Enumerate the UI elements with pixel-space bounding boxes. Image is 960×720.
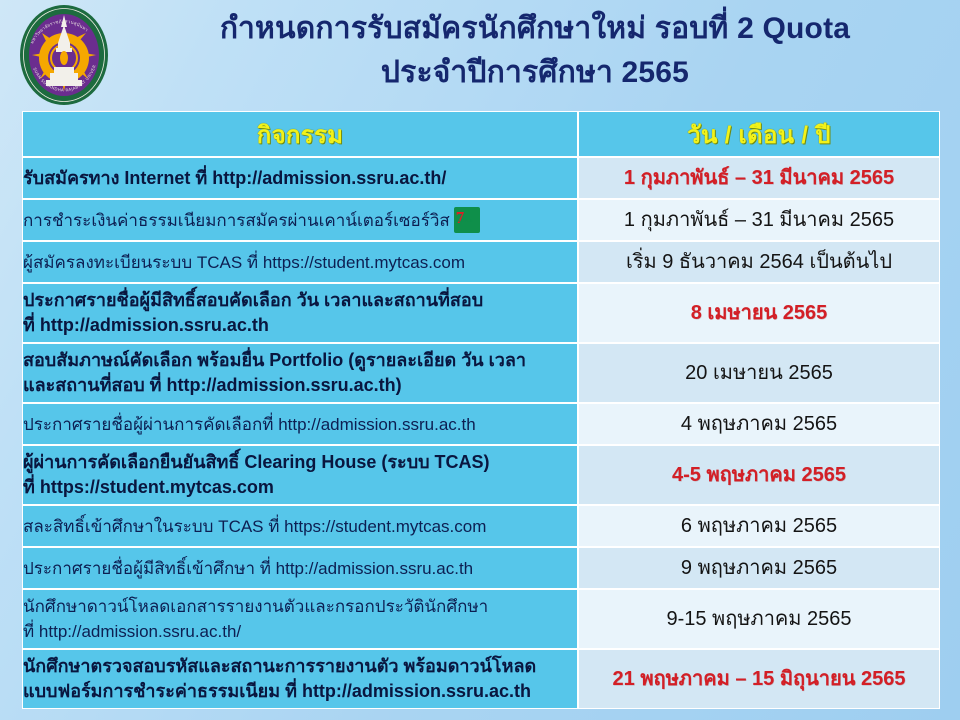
page-title-line-1: กำหนดการรับสมัครนักศึกษาใหม่ รอบที่ 2 Qu… [118,7,952,51]
activity-text-line: สละสิทธิ์เข้าศึกษาในระบบ TCAS ที่ https:… [23,514,577,539]
activity-cell: ผู้สมัครลงทะเบียนระบบ TCAS ที่ https://s… [22,241,578,283]
schedule-table-wrapper: กิจกรรม วัน / เดือน / ปี รับสมัครทาง Int… [22,111,940,709]
date-cell: เริ่ม 9 ธันวาคม 2564 เป็นต้นไป [578,241,940,283]
table-body: รับสมัครทาง Internet ที่ http://admissio… [22,157,940,709]
seven-eleven-icon: 7ELEVEN [454,207,480,233]
table-row: ประกาศรายชื่อผู้มีสิทธิ์เข้าศึกษา ที่ ht… [22,547,940,589]
date-cell: 4 พฤษภาคม 2565 [578,403,940,445]
activity-text-line: การชำระเงินค่าธรรมเนียมการสมัครผ่านเคาน์… [23,207,577,233]
column-header-date: วัน / เดือน / ปี [578,111,940,157]
activity-text-line: นักศึกษาดาวน์โหลดเอกสารรายงานตัวและกรอกป… [23,594,577,619]
activity-text-line: ผู้ผ่านการคัดเลือกยืนยันสิทธิ์ Clearing … [23,450,577,475]
table-row: ประกาศรายชื่อผู้ผ่านการคัดเลือกที่ http:… [22,403,940,445]
page-header: มหาวิทยาลัยราชภัฏสวนสุนันทา SUAN SUNANDH… [0,0,960,108]
activity-text-line: ผู้สมัครลงทะเบียนระบบ TCAS ที่ https://s… [23,250,577,275]
date-cell: 4-5 พฤษภาคม 2565 [578,445,940,505]
activity-cell: ผู้ผ่านการคัดเลือกยืนยันสิทธิ์ Clearing … [22,445,578,505]
activity-cell: ประกาศรายชื่อผู้มีสิทธิ์เข้าศึกษา ที่ ht… [22,547,578,589]
activity-text-line: แบบฟอร์มการชำระค่าธรรมเนียม ที่ http://a… [23,679,577,704]
table-row: นักศึกษาดาวน์โหลดเอกสารรายงานตัวและกรอกป… [22,589,940,649]
activity-cell: นักศึกษาตรวจสอบรหัสและสถานะการรายงานตัว … [22,649,578,709]
activity-text-line: ประกาศรายชื่อผู้มีสิทธิ์เข้าศึกษา ที่ ht… [23,556,577,581]
table-row: สอบสัมภาษณ์คัดเลือก พร้อมยื่น Portfolio … [22,343,940,403]
table-row: ผู้ผ่านการคัดเลือกยืนยันสิทธิ์ Clearing … [22,445,940,505]
date-cell: 8 เมษายน 2565 [578,283,940,343]
date-cell: 9 พฤษภาคม 2565 [578,547,940,589]
table-row: สละสิทธิ์เข้าศึกษาในระบบ TCAS ที่ https:… [22,505,940,547]
date-cell: 9-15 พฤษภาคม 2565 [578,589,940,649]
table-row: การชำระเงินค่าธรรมเนียมการสมัครผ่านเคาน์… [22,199,940,241]
column-header-activity: กิจกรรม [22,111,578,157]
activity-text-line: ประกาศรายชื่อผู้ผ่านการคัดเลือกที่ http:… [23,412,577,437]
date-cell: 21 พฤษภาคม – 15 มิถุนายน 2565 [578,649,940,709]
table-row: นักศึกษาตรวจสอบรหัสและสถานะการรายงานตัว … [22,649,940,709]
activity-cell: ประกาศรายชื่อผู้ผ่านการคัดเลือกที่ http:… [22,403,578,445]
table-row: ผู้สมัครลงทะเบียนระบบ TCAS ที่ https://s… [22,241,940,283]
date-cell: 1 กุมภาพันธ์ – 31 มีนาคม 2565 [578,157,940,199]
activity-text-line: นักศึกษาตรวจสอบรหัสและสถานะการรายงานตัว … [23,654,577,679]
activity-cell: นักศึกษาดาวน์โหลดเอกสารรายงานตัวและกรอกป… [22,589,578,649]
table-row: ประกาศรายชื่อผู้มีสิทธิ์สอบคัดเลือก วัน … [22,283,940,343]
table-header-row: กิจกรรม วัน / เดือน / ปี [22,111,940,157]
activity-text-line: ที่ http://admission.ssru.ac.th [23,313,577,338]
date-cell: 1 กุมภาพันธ์ – 31 มีนาคม 2565 [578,199,940,241]
activity-text-line: ที่ http://admission.ssru.ac.th/ [23,619,577,644]
date-cell: 20 เมษายน 2565 [578,343,940,403]
activity-text-line: สอบสัมภาษณ์คัดเลือก พร้อมยื่น Portfolio … [23,348,577,373]
table-row: รับสมัครทาง Internet ที่ http://admissio… [22,157,940,199]
activity-cell: ประกาศรายชื่อผู้มีสิทธิ์สอบคัดเลือก วัน … [22,283,578,343]
admission-schedule-table: กิจกรรม วัน / เดือน / ปี รับสมัครทาง Int… [22,111,940,709]
ssru-university-emblem-icon: มหาวิทยาลัยราชภัฏสวนสุนันทา SUAN SUNANDH… [16,3,112,107]
activity-text-line: ที่ https://student.mytcas.com [23,475,577,500]
page-title-line-2: ประจำปีการศึกษา 2565 [118,51,952,95]
page-title: กำหนดการรับสมัครนักศึกษาใหม่ รอบที่ 2 Qu… [118,0,952,95]
activity-cell: สละสิทธิ์เข้าศึกษาในระบบ TCAS ที่ https:… [22,505,578,547]
activity-cell: สอบสัมภาษณ์คัดเลือก พร้อมยื่น Portfolio … [22,343,578,403]
date-cell: 6 พฤษภาคม 2565 [578,505,940,547]
activity-text-line: รับสมัครทาง Internet ที่ http://admissio… [23,166,577,191]
activity-text-line: ประกาศรายชื่อผู้มีสิทธิ์สอบคัดเลือก วัน … [23,288,577,313]
table-head: กิจกรรม วัน / เดือน / ปี [22,111,940,157]
activity-cell: รับสมัครทาง Internet ที่ http://admissio… [22,157,578,199]
admission-schedule-page: มหาวิทยาลัยราชภัฏสวนสุนันทา SUAN SUNANDH… [0,0,960,720]
activity-text-line: และสถานที่สอบ ที่ http://admission.ssru.… [23,373,577,398]
activity-cell: การชำระเงินค่าธรรมเนียมการสมัครผ่านเคาน์… [22,199,578,241]
